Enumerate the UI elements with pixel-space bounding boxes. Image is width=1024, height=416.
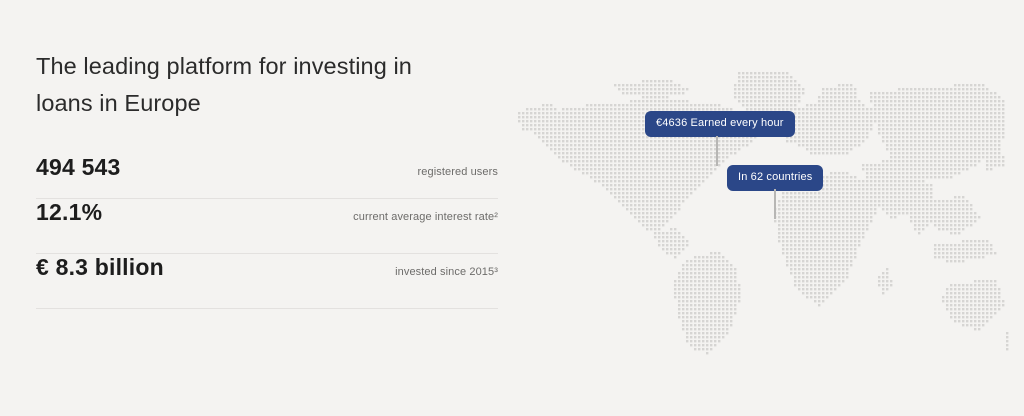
stat-value: 12.1% — [36, 199, 102, 226]
left-content-panel: The leading platform for investing in lo… — [36, 48, 498, 309]
stats-hero-section: The leading platform for investing in lo… — [0, 0, 1024, 416]
world-map-dots — [510, 60, 1010, 380]
map-pin-line — [716, 136, 718, 166]
world-map — [510, 60, 1010, 380]
stats-list: 494 543 registered users 12.1% current a… — [36, 154, 498, 309]
stat-caption: current average interest rate² — [353, 211, 498, 223]
map-tooltip-earnings[interactable]: €4636 Earned every hour — [645, 111, 795, 137]
stat-row-registered-users: 494 543 registered users — [36, 154, 498, 199]
stat-row-interest-rate: 12.1% current average interest rate² — [36, 199, 498, 254]
map-pin-line — [774, 189, 776, 219]
stat-caption: registered users — [418, 166, 498, 178]
stat-caption: invested since 2015³ — [395, 266, 498, 278]
stat-row-invested-total: € 8.3 billion invested since 2015³ — [36, 254, 498, 309]
stat-value: € 8.3 billion — [36, 254, 164, 281]
map-tooltip-countries[interactable]: In 62 countries — [727, 165, 823, 191]
stat-value: 494 543 — [36, 154, 121, 181]
page-title: The leading platform for investing in lo… — [36, 48, 456, 122]
